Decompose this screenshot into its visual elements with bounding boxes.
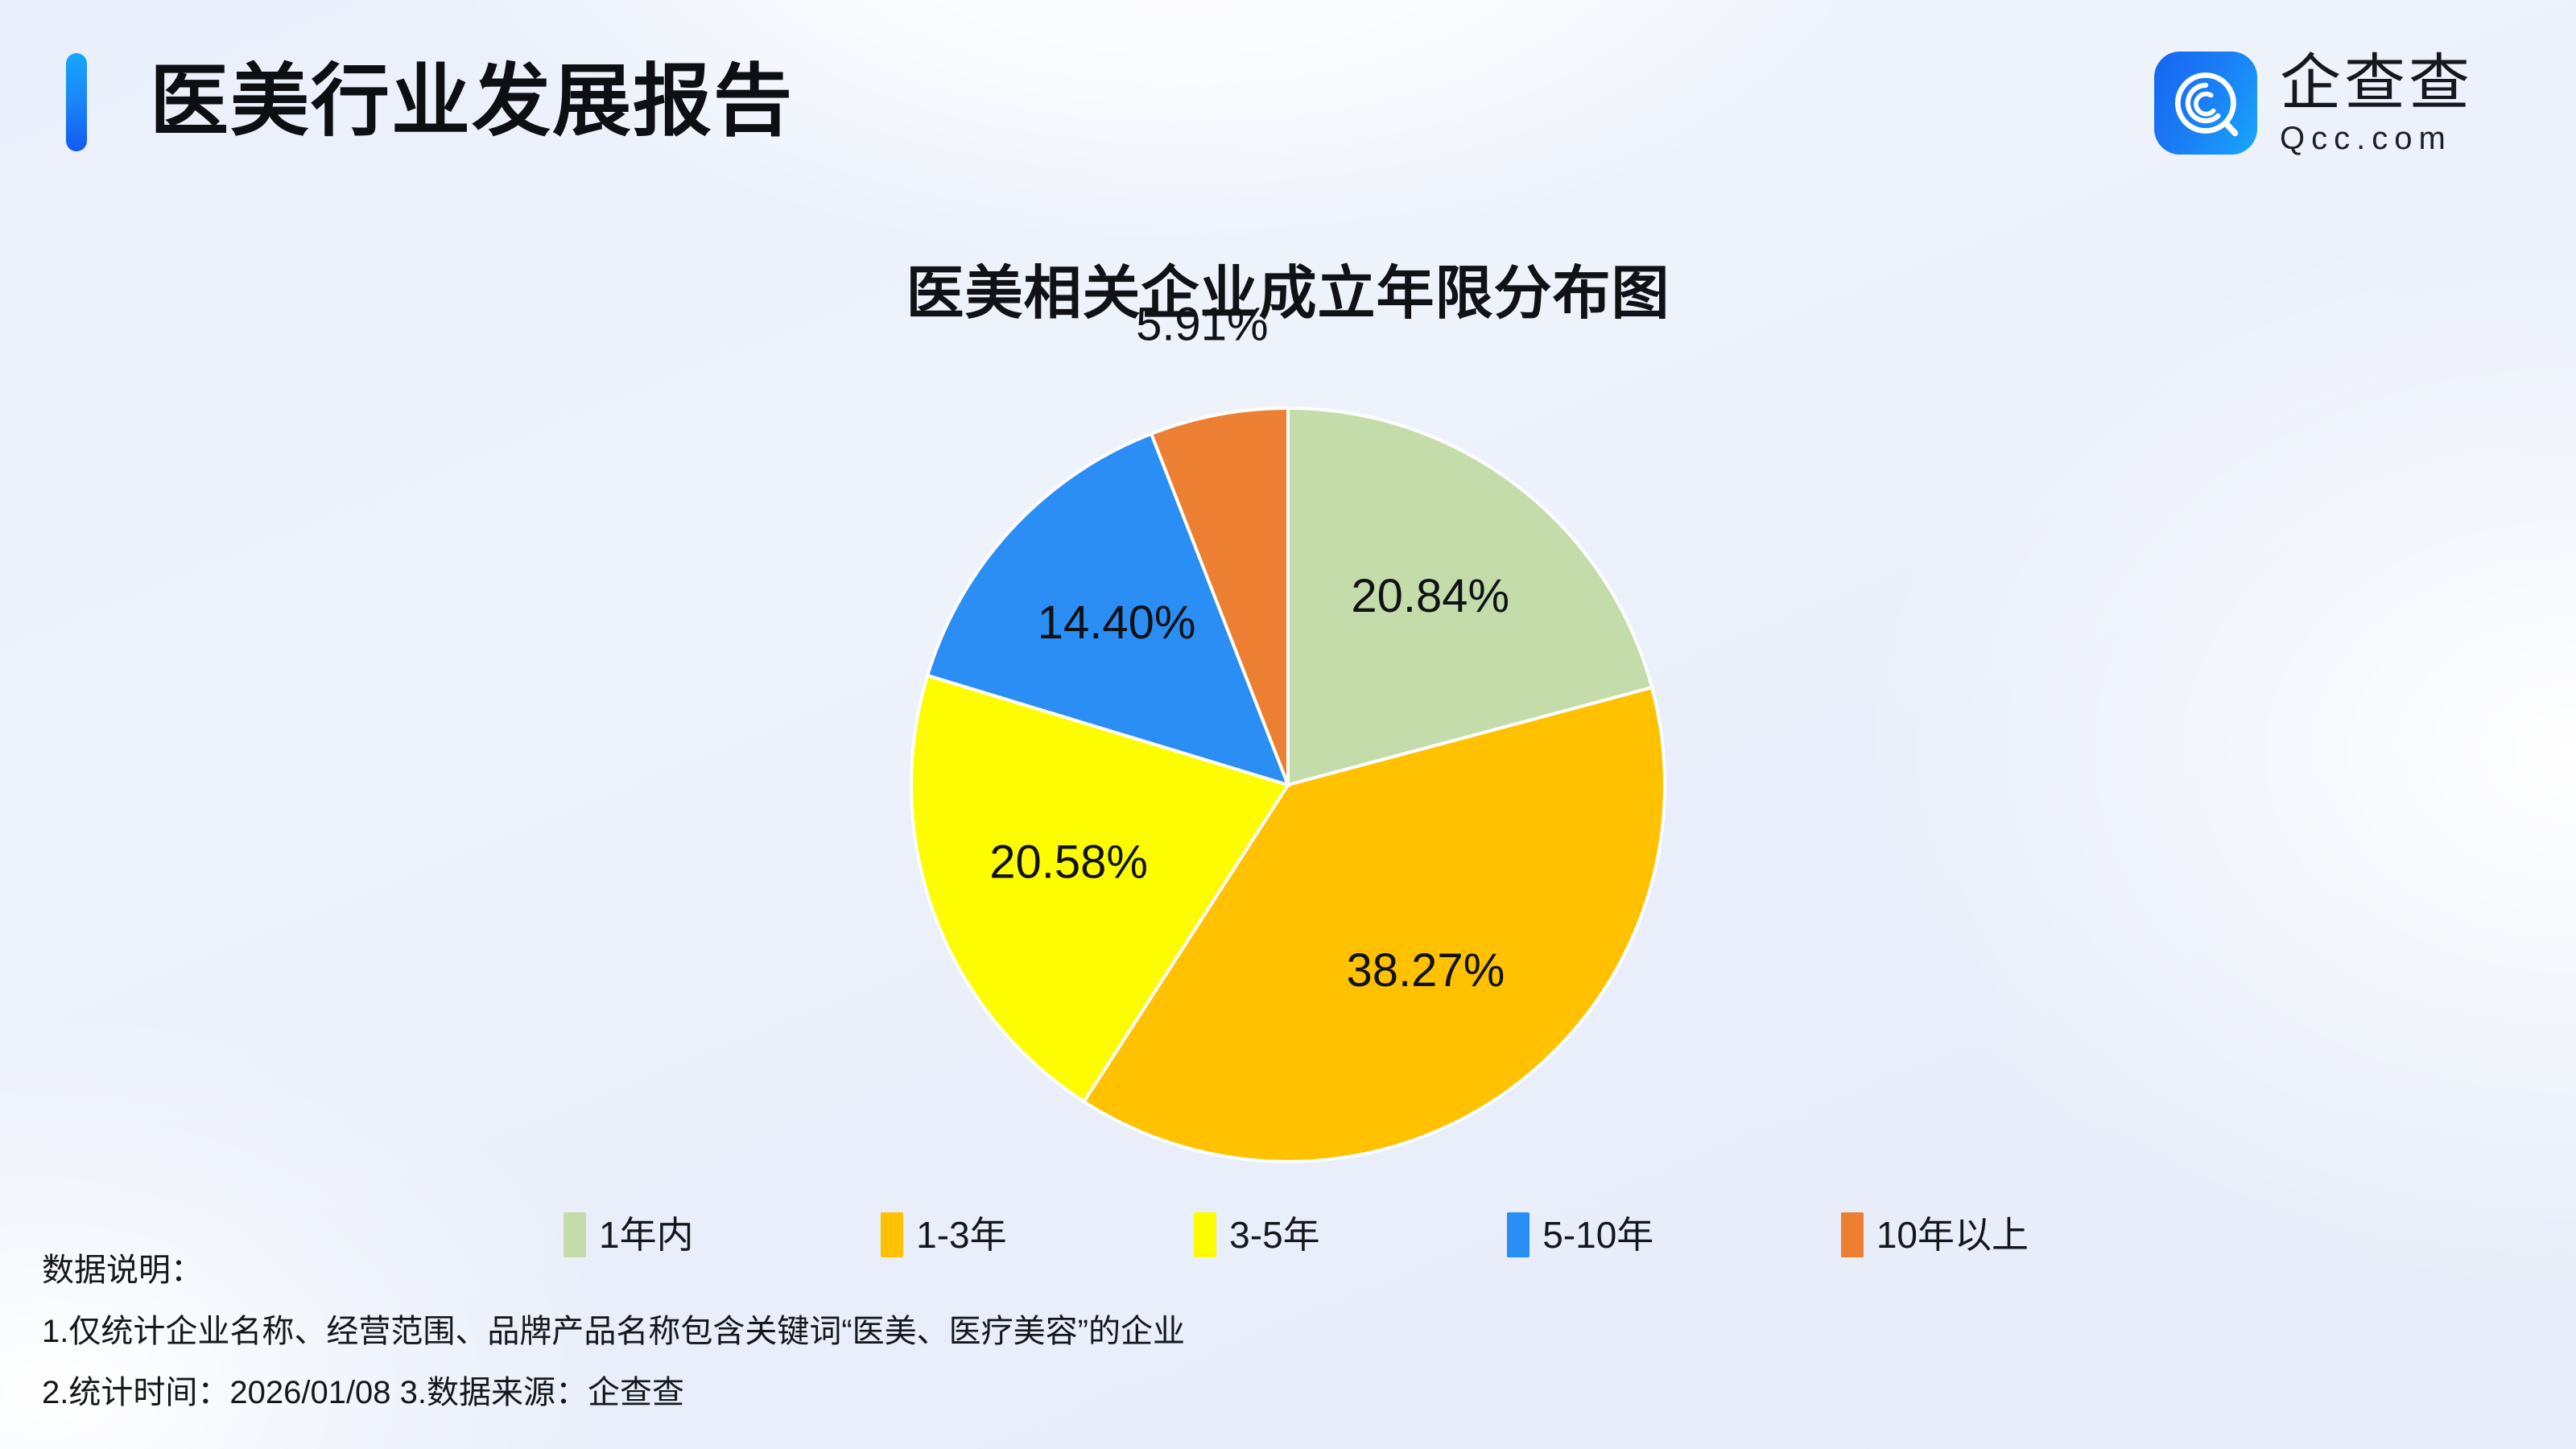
- title-accent-bar: [66, 53, 87, 151]
- pie-chart-svg: 20.84%38.27%20.58%14.40%5.91%: [906, 402, 1670, 1167]
- notes-heading: 数据说明：: [42, 1240, 1974, 1301]
- pie-label-5-10年: 14.40%: [1038, 597, 1196, 649]
- brand-name-cn: 企查查: [2280, 50, 2473, 118]
- qcc-logo-icon: [2154, 52, 2257, 155]
- pie-label-1年内: 20.84%: [1351, 570, 1509, 622]
- brand-logo[interactable]: 企查查 Qcc.com: [2154, 50, 2473, 156]
- pie-label-1-3年: 38.27%: [1347, 944, 1505, 997]
- report-page: 医美行业发展报告 企查查 Qcc.com 医美相关企业成立年限分布图: [0, 0, 2576, 1449]
- pie-slice-group: [911, 408, 1665, 1162]
- notes-line-1: 1.仅统计企业名称、经营范围、品牌产品名称包含关键词“医美、医疗美容”的企业: [42, 1301, 1974, 1362]
- pie-label-3-5年: 20.58%: [989, 836, 1148, 888]
- brand-name-en: Qcc.com: [2280, 121, 2473, 156]
- brand-text: 企查查 Qcc.com: [2280, 50, 2473, 156]
- pie-chart: 20.84%38.27%20.58%14.40%5.91%: [906, 402, 1670, 1167]
- page-header: 医美行业发展报告 企查查 Qcc.com: [0, 0, 2576, 201]
- notes-line-2: 2.统计时间：2026/01/08 3.数据来源：企查查: [42, 1362, 1974, 1423]
- chart-title: 医美相关企业成立年限分布图: [0, 246, 2576, 330]
- pie-label-10年以上: 5.91%: [1136, 298, 1268, 350]
- page-title: 医美行业发展报告: [150, 40, 794, 161]
- data-notes: 数据说明： 1.仅统计企业名称、经营范围、品牌产品名称包含关键词“医美、医疗美容…: [42, 1240, 1974, 1423]
